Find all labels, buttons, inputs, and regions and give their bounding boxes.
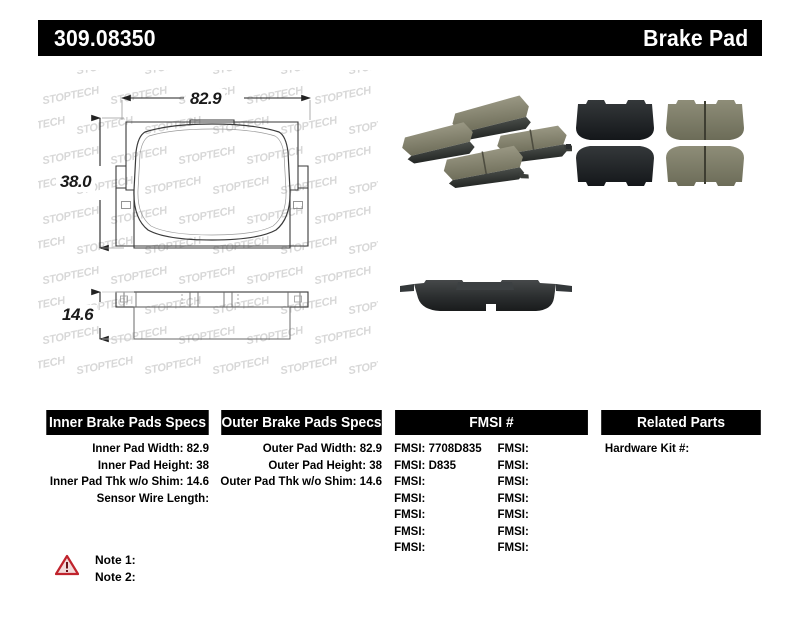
- fmsi-row: FMSI:: [394, 491, 489, 508]
- warning-triangle-icon: [55, 554, 79, 576]
- part-number: 309.08350: [54, 25, 156, 52]
- related-parts-list: Hardware Kit #:: [597, 441, 765, 557]
- fmsi-row: FMSI:: [497, 491, 592, 508]
- inner-specs-list: Inner Pad Width: 82.9Inner Pad Height: 3…: [42, 441, 213, 557]
- outer-spec-row: Outer Pad Width: 82.9: [217, 441, 382, 458]
- header-inner-brake-pads-specs: Inner Brake Pads Specs: [46, 410, 208, 435]
- fmsi-row: FMSI: D835: [394, 458, 489, 475]
- notes-section: Note 1:Note 2:: [55, 552, 136, 586]
- spec-table-header-row: Inner Brake Pads Specs Outer Brake Pads …: [42, 410, 765, 435]
- header-related-parts: Related Parts: [601, 410, 761, 435]
- fmsi-row: FMSI:: [394, 540, 489, 557]
- header-bar: 309.08350 Brake Pad: [38, 20, 762, 56]
- height-dimension-line: [100, 118, 124, 248]
- drawing-svg: [38, 70, 378, 390]
- fmsi-row: FMSI:: [497, 458, 592, 475]
- brake-pad-edge-photo: [396, 276, 584, 322]
- height-dimension-label: 38.0: [56, 172, 95, 192]
- fmsi-list: FMSI: 7708D835FMSI: D835FMSI:FMSI:FMSI:F…: [390, 441, 593, 557]
- spec-table: Inner Brake Pads Specs Outer Brake Pads …: [42, 410, 765, 557]
- header-outer-brake-pads-specs: Outer Brake Pads Specs: [221, 410, 382, 435]
- inner-spec-row: Sensor Wire Length:: [42, 491, 209, 508]
- note-line: Note 1:: [95, 552, 136, 569]
- fmsi-row: FMSI: 7708D835: [394, 441, 489, 458]
- outer-spec-row: Outer Pad Thk w/o Shim: 14.6: [217, 474, 382, 491]
- side-view-outline: [116, 292, 308, 339]
- inner-spec-row: Inner Pad Height: 38: [42, 458, 209, 475]
- fmsi-column-right: FMSI:FMSI:FMSI:FMSI:FMSI:FMSI:FMSI:: [489, 441, 592, 557]
- fmsi-row: FMSI:: [394, 524, 489, 541]
- technical-drawing: STOPTECHSTOPTECHSTOPTECHSTOPTECHSTOPTECH…: [38, 70, 378, 390]
- note-lines: Note 1:Note 2:: [95, 552, 136, 586]
- fmsi-row: FMSI:: [497, 441, 592, 458]
- fmsi-row: FMSI:: [497, 540, 592, 557]
- inner-spec-row: Inner Pad Thk w/o Shim: 14.6: [42, 474, 209, 491]
- thickness-dimension-line: [100, 292, 134, 339]
- fmsi-row: FMSI:: [394, 474, 489, 491]
- inner-spec-row: Inner Pad Width: 82.9: [42, 441, 209, 458]
- outer-specs-list: Outer Pad Width: 82.9Outer Pad Height: 3…: [217, 441, 386, 557]
- fmsi-row: FMSI:: [497, 507, 592, 524]
- fmsi-row: FMSI:: [497, 524, 592, 541]
- front-view-outline: [116, 120, 308, 248]
- spec-table-body: Inner Pad Width: 82.9Inner Pad Height: 3…: [42, 441, 765, 557]
- width-dimension-label: 82.9: [186, 89, 225, 109]
- outer-spec-row: Outer Pad Height: 38: [217, 458, 382, 475]
- fmsi-row: FMSI:: [394, 507, 489, 524]
- fmsi-row: FMSI:: [497, 474, 592, 491]
- thickness-dimension-label: 14.6: [58, 305, 97, 325]
- brake-pad-pairs-photo: [566, 92, 754, 192]
- fmsi-column-left: FMSI: 7708D835FMSI: D835FMSI:FMSI:FMSI:F…: [390, 441, 489, 557]
- product-type: Brake Pad: [643, 25, 748, 52]
- note-line: Note 2:: [95, 569, 136, 586]
- related-part-row: Hardware Kit #:: [605, 441, 765, 458]
- header-fmsi: FMSI #: [395, 410, 588, 435]
- brake-pad-set-photo: [392, 92, 572, 192]
